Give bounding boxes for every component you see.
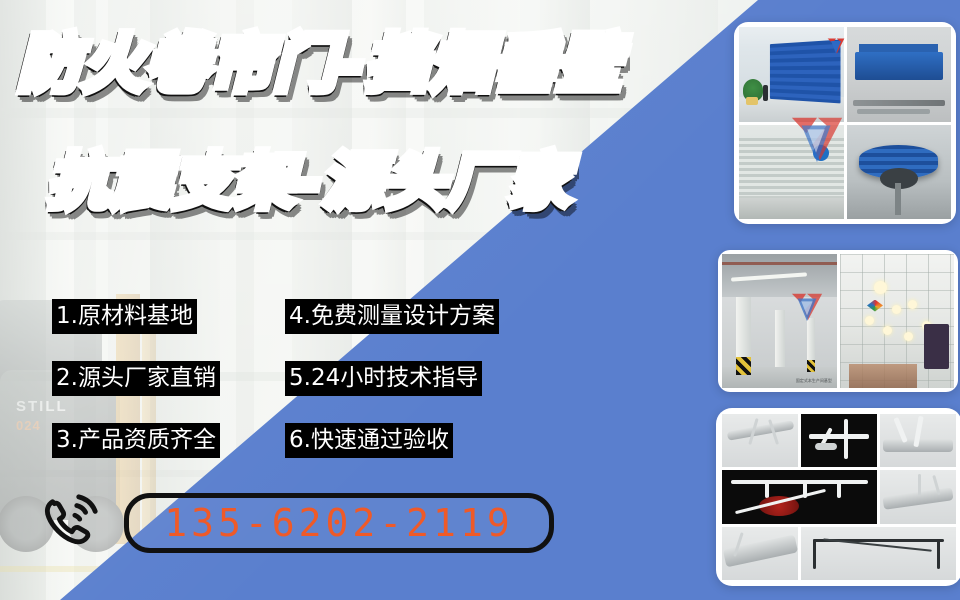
feature-list: 1.原材料基地 4.免费测量设计方案 2.源头厂家直销 5.24小时技术指导 3… — [52, 299, 572, 485]
photo-duct — [726, 420, 793, 440]
photo-seismic-brace-duct-closeup — [722, 527, 798, 580]
photo-frame-post — [813, 539, 816, 569]
photo-column — [775, 310, 785, 374]
phone-ringing-icon — [40, 492, 102, 554]
phone-number: 135-6202-2119 — [164, 504, 513, 542]
photo-brace-rod — [918, 474, 921, 496]
photo-downlight — [908, 300, 917, 309]
feature-row: 1.原材料基地 4.免费测量设计方案 — [52, 299, 572, 334]
middle-photo-collage[interactable]: 固定式本生产间基型 — [718, 250, 958, 392]
feature-right-cell: 5.24小时技术指导 — [285, 361, 482, 396]
photo-seismic-brace-hanger — [801, 414, 877, 467]
photo-seismic-brace-frame-room — [801, 527, 956, 580]
photo-shutter — [770, 40, 841, 104]
photo-suspended-ceiling — [840, 254, 955, 388]
photo-support-post — [895, 183, 901, 215]
feature-item-6: 6.快速通过验收 — [285, 423, 453, 458]
contact-row: 135-6202-2119 — [40, 492, 554, 554]
photo-steel-bar — [853, 100, 945, 107]
photo-plant-pot — [746, 97, 758, 105]
collage-grid: 固定式本生产间基型 — [722, 254, 954, 388]
photo-shutter-slats — [739, 138, 844, 197]
photo-frame-post — [937, 539, 940, 569]
photo-person — [763, 85, 768, 101]
feature-item-1: 1.原材料基地 — [52, 299, 197, 334]
feature-left-cell: 2.源头厂家直销 — [52, 361, 285, 396]
photo-lower-hall — [849, 364, 918, 388]
photo-dark-panel — [924, 324, 949, 370]
bottom-photo-collage[interactable] — [716, 408, 960, 586]
feature-item-3: 3.产品资质齐全 — [52, 423, 220, 458]
feature-right-cell: 4.免费测量设计方案 — [285, 299, 499, 334]
photo-steel-bar — [857, 109, 930, 114]
feature-item-2: 2.源头厂家直销 — [52, 361, 220, 396]
photo-downlight — [874, 281, 887, 294]
photo-caption: 固定式本生产间基型 — [796, 378, 832, 384]
photo-channel — [731, 480, 867, 484]
photo-downlight — [892, 305, 901, 314]
collage-grid — [739, 27, 951, 219]
photo-hazard-stripe — [807, 360, 815, 372]
feature-right-cell: 6.快速通过验收 — [285, 423, 453, 458]
photo-pipe — [722, 262, 837, 265]
photo-seismic-brace-hvac-ceiling — [880, 470, 956, 523]
phone-number-badge[interactable]: 135-6202-2119 — [124, 493, 554, 553]
photo-blue-steel-coil — [847, 125, 952, 220]
feature-item-5: 5.24小时技术指导 — [285, 361, 482, 396]
photo-hazard-stripe — [736, 357, 751, 374]
photo-channel — [809, 434, 870, 439]
photo-seismic-brace-red-fan — [722, 470, 877, 523]
photo-roll-forming-machine — [847, 27, 952, 122]
top-photo-collage[interactable] — [734, 22, 956, 224]
photo-threaded-rod — [837, 480, 841, 498]
feature-left-cell: 1.原材料基地 — [52, 299, 285, 334]
photo-downlight — [865, 316, 874, 325]
photo-floor — [739, 198, 844, 219]
feature-row: 2.源头厂家直销 5.24小时技术指导 — [52, 361, 572, 396]
feature-left-cell: 3.产品资质齐全 — [52, 423, 285, 458]
photo-threaded-rod — [765, 480, 769, 498]
feature-item-4: 4.免费测量设计方案 — [285, 299, 499, 334]
photo-parking-garage: 固定式本生产间基型 — [722, 254, 837, 388]
photo-blue-rolling-shutter-door — [739, 27, 844, 122]
photo-threaded-rod — [844, 419, 848, 458]
photo-pipe — [815, 443, 838, 450]
feature-row: 3.产品资质齐全 6.快速通过验收 — [52, 423, 572, 458]
photo-downlight — [904, 332, 913, 341]
poster-root: STILL 024 防火卷帘门-挡烟垂壁 防火卷帘门-挡烟垂壁 抗震支架-源头厂… — [0, 0, 960, 600]
photo-seismic-brace-pipe-clamp — [880, 414, 956, 467]
collage-grid — [722, 414, 956, 580]
photo-machine-body — [855, 52, 943, 80]
photo-seismic-brace-duct — [722, 414, 798, 467]
photo-steel-shutter-corridor — [739, 125, 844, 220]
